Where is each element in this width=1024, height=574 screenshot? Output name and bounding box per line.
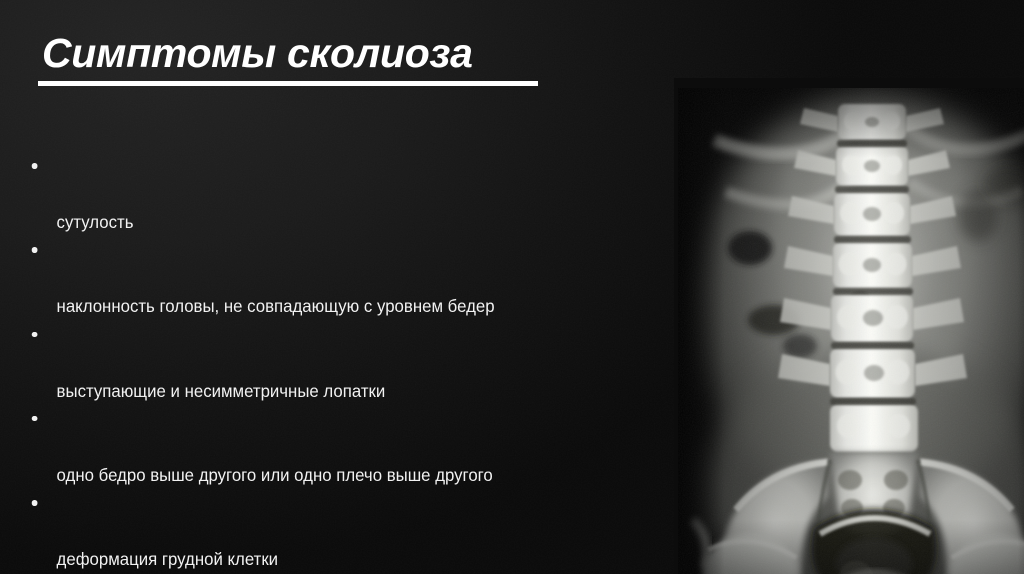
page-title: Симптомы сколиоза — [38, 28, 598, 78]
list-item: деформация грудной клетки — [26, 489, 609, 573]
list-item: сутулость — [26, 152, 609, 236]
list-item: наклонность головы, не совпадающую с уро… — [26, 236, 609, 320]
list-item-label: наклонность головы, не совпадающую с уро… — [57, 296, 495, 316]
list-item-label: деформация грудной клетки — [57, 549, 279, 569]
bullet-dot-icon — [32, 247, 37, 253]
presentation-slide: Симптомы сколиоза сутулость наклонность … — [0, 0, 1024, 574]
title-block: Симптомы сколиоза — [38, 28, 598, 86]
list-item: выступающие и несимметричные лопатки — [26, 321, 609, 405]
lumbar-spine-xray-image — [678, 88, 1024, 574]
bullet-dot-icon — [32, 500, 37, 506]
symptom-list: сутулость наклонность головы, не совпада… — [26, 152, 636, 574]
bullet-dot-icon — [32, 416, 37, 422]
list-item-label: сутулость — [57, 212, 134, 232]
xray-figure — [674, 78, 1024, 574]
bullet-dot-icon — [32, 163, 37, 169]
list-item-label: одно бедро выше другого или одно плечо в… — [57, 465, 493, 485]
list-item: одно бедро выше другого или одно плечо в… — [26, 405, 609, 489]
title-underline-rule — [38, 81, 538, 86]
bullet-dot-icon — [32, 332, 37, 338]
list-item-label: выступающие и несимметричные лопатки — [57, 381, 386, 401]
